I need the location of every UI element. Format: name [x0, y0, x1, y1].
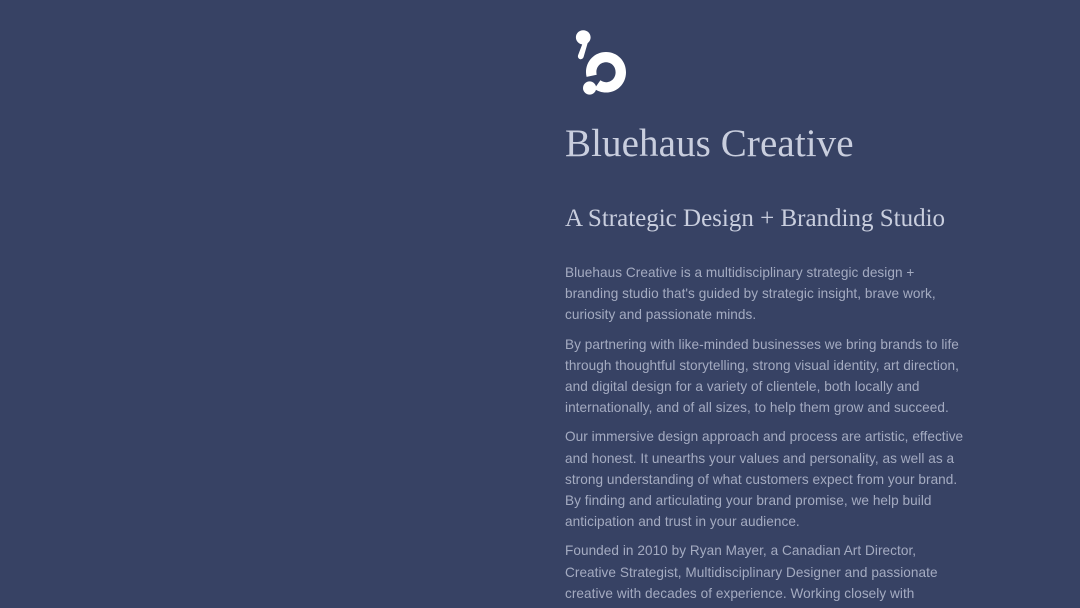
bluehaus-logo-icon[interactable] [570, 26, 636, 104]
logo-tail-shape [576, 30, 591, 59]
about-text-block: Bluehaus Creative is a multidisciplinary… [565, 262, 967, 608]
about-paragraph-3: Our immersive design approach and proces… [565, 426, 967, 532]
about-paragraph-4: Founded in 2010 by Ryan Mayer, a Canadia… [565, 540, 967, 608]
page-title: Bluehaus Creative [565, 120, 854, 168]
page-tagline: A Strategic Design + Branding Studio [565, 202, 945, 236]
logo-dot-shape [583, 81, 596, 94]
about-paragraph-1: Bluehaus Creative is a multidisciplinary… [565, 262, 967, 326]
content-column: Bluehaus Creative A Strategic Design + B… [565, 0, 967, 608]
page-root: Bluehaus Creative A Strategic Design + B… [0, 0, 1080, 608]
about-paragraph-2: By partnering with like-minded businesse… [565, 334, 967, 419]
